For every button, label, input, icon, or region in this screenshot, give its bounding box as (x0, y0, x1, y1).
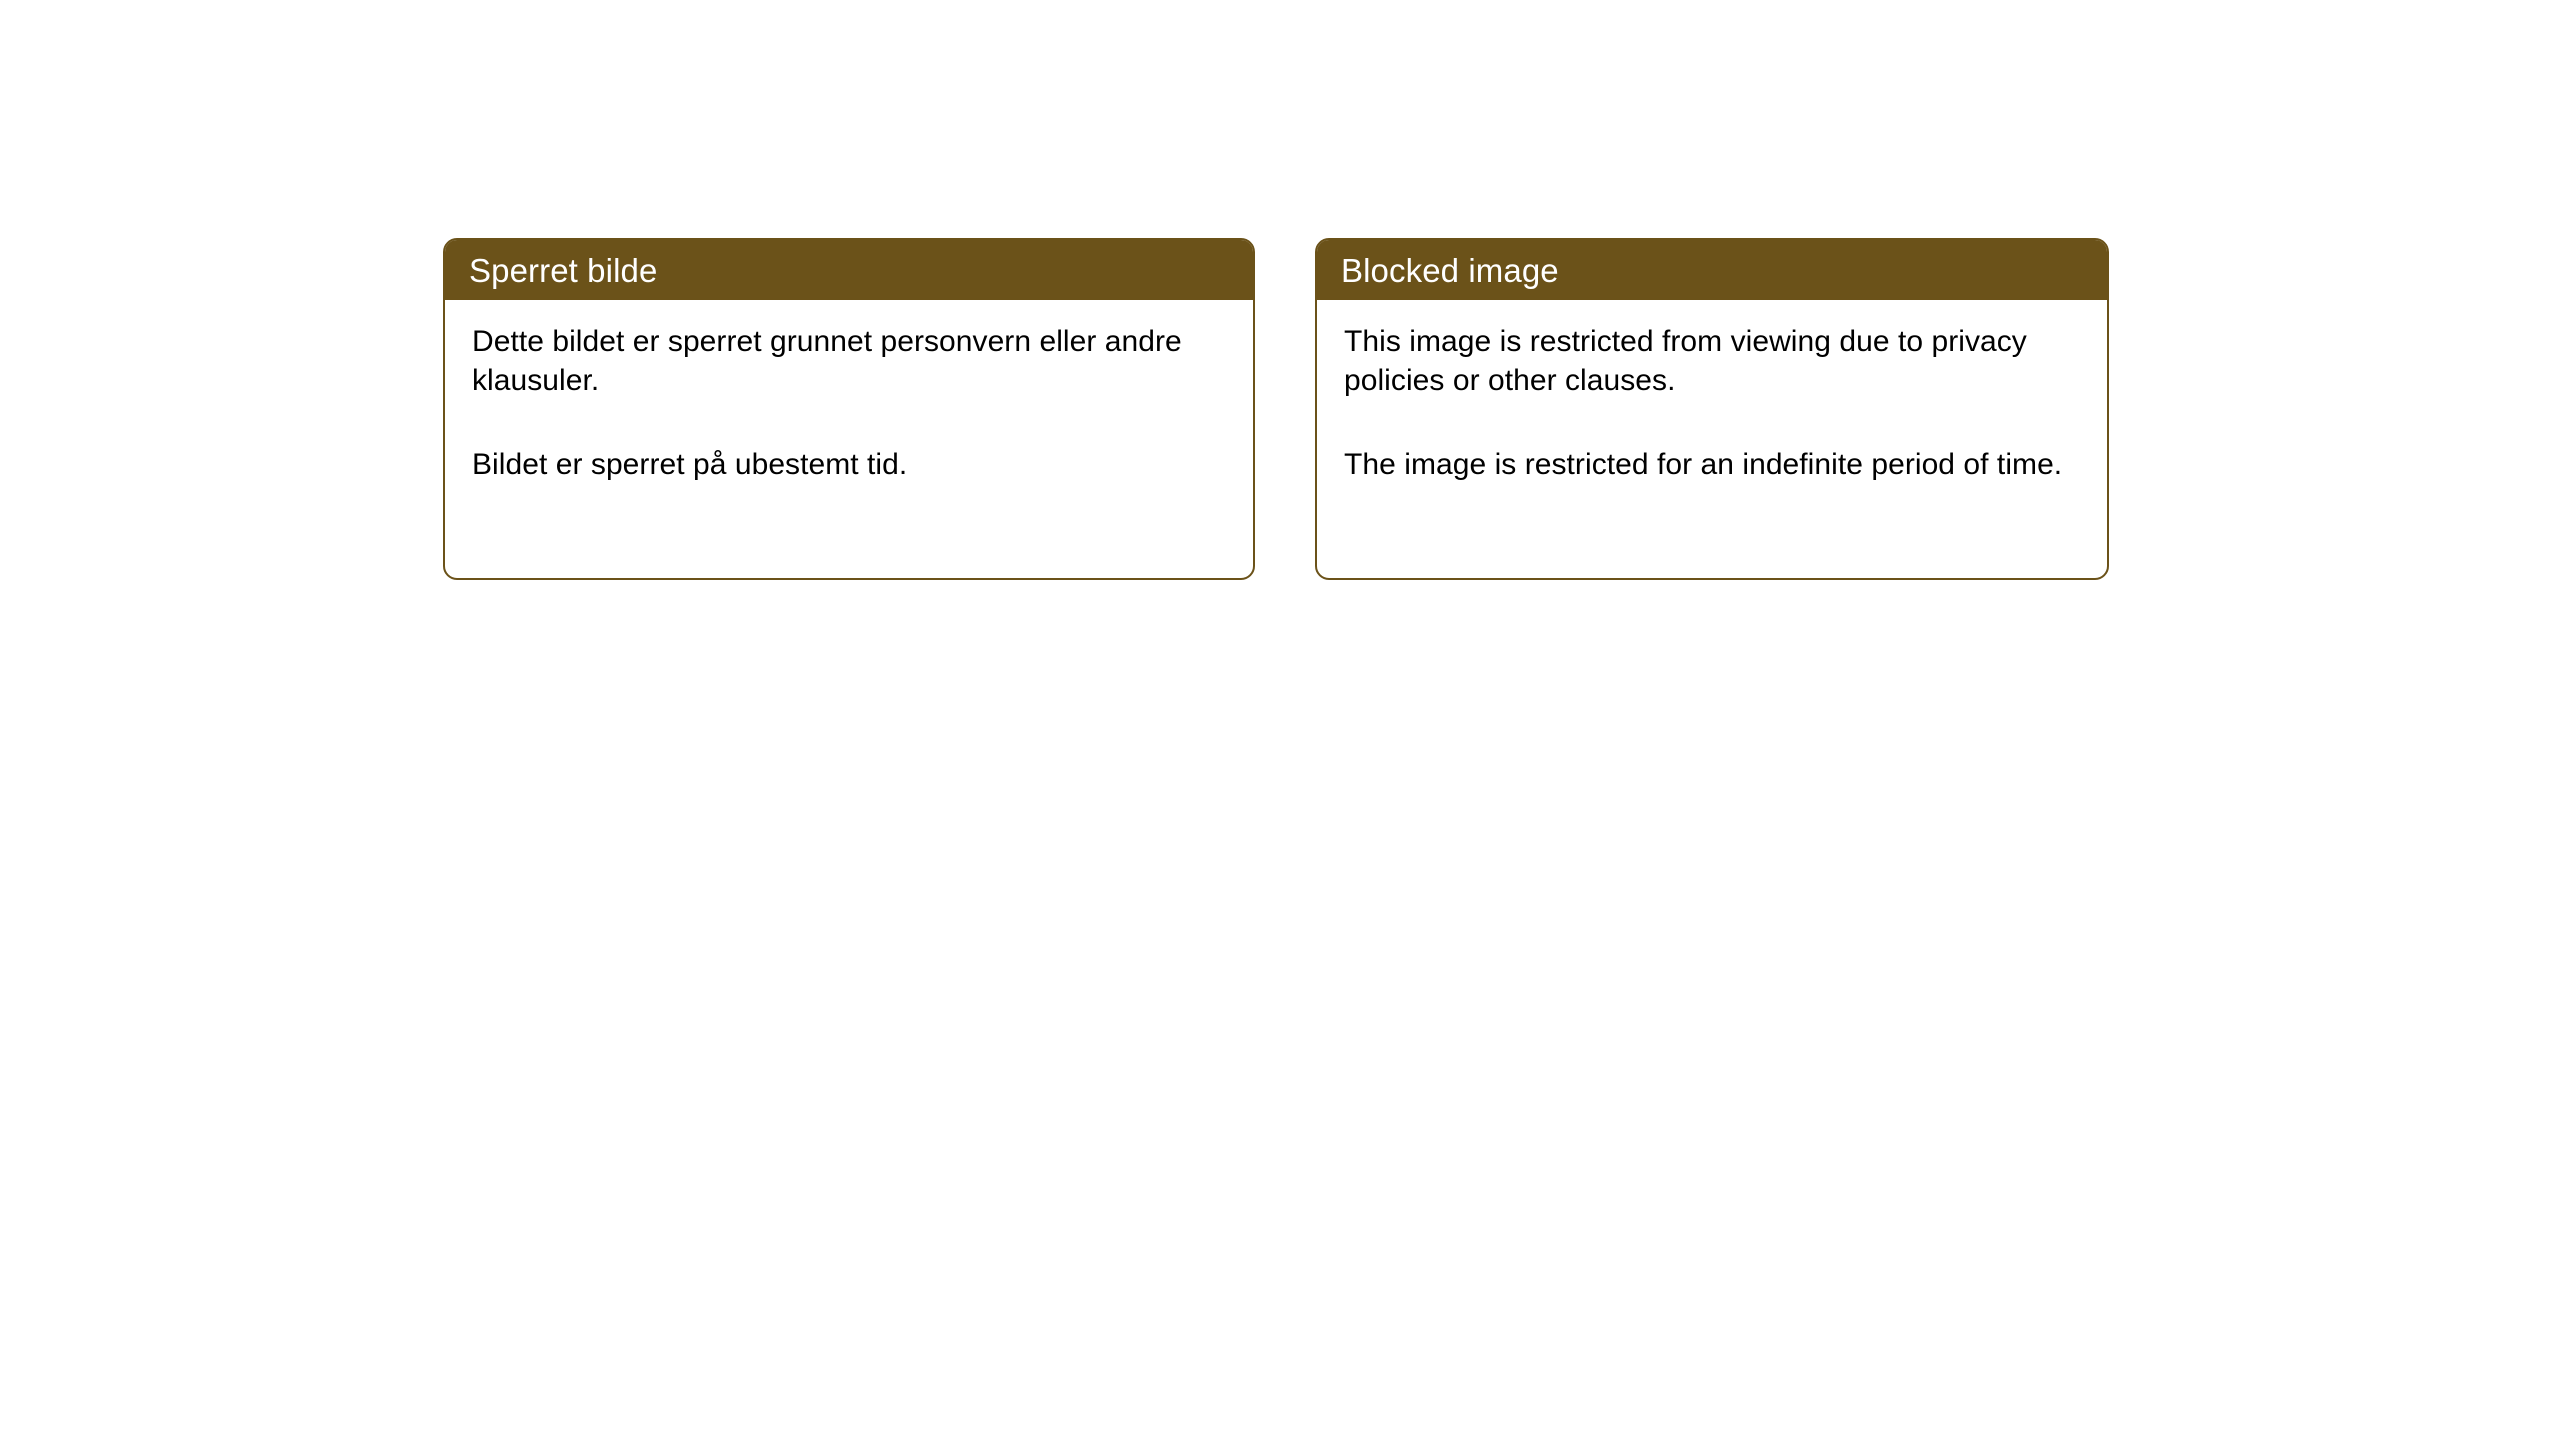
notice-paragraph-primary-no: Dette bildet er sperret grunnet personve… (472, 322, 1227, 401)
notice-body-no: Dette bildet er sperret grunnet personve… (445, 300, 1253, 484)
notice-paragraph-secondary-en: The image is restricted for an indefinit… (1344, 445, 2081, 484)
blocked-image-notice-no: Sperret bilde Dette bildet er sperret gr… (443, 238, 1255, 580)
notice-paragraph-secondary-no: Bildet er sperret på ubestemt tid. (472, 445, 1227, 484)
notice-header-en: Blocked image (1317, 240, 2107, 300)
notice-title-en: Blocked image (1341, 254, 1559, 287)
notice-body-en: This image is restricted from viewing du… (1317, 300, 2107, 484)
notice-header-no: Sperret bilde (445, 240, 1253, 300)
blocked-image-notice-en: Blocked image This image is restricted f… (1315, 238, 2109, 580)
notice-title-no: Sperret bilde (469, 254, 657, 287)
notice-paragraph-primary-en: This image is restricted from viewing du… (1344, 322, 2081, 401)
